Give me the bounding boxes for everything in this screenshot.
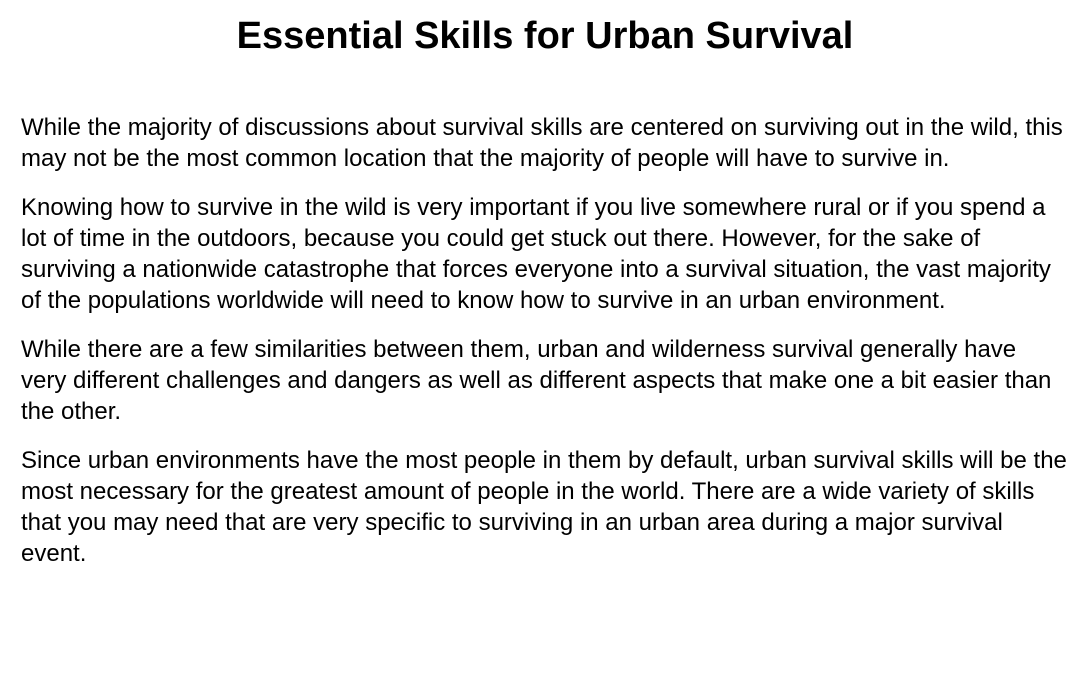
paragraph-similarities-differences: While there are a few similarities betwe… [21, 334, 1067, 427]
page-title: Essential Skills for Urban Survival [0, 13, 1090, 59]
paragraph-urban-necessity: Since urban environments have the most p… [21, 445, 1067, 569]
paragraph-wilderness-vs-catastrophe: Knowing how to survive in the wild is ve… [21, 192, 1067, 316]
document-page: Essential Skills for Urban Survival Whil… [0, 0, 1090, 679]
paragraph-intro: While the majority of discussions about … [21, 112, 1067, 174]
article-body: While the majority of discussions about … [21, 112, 1067, 569]
